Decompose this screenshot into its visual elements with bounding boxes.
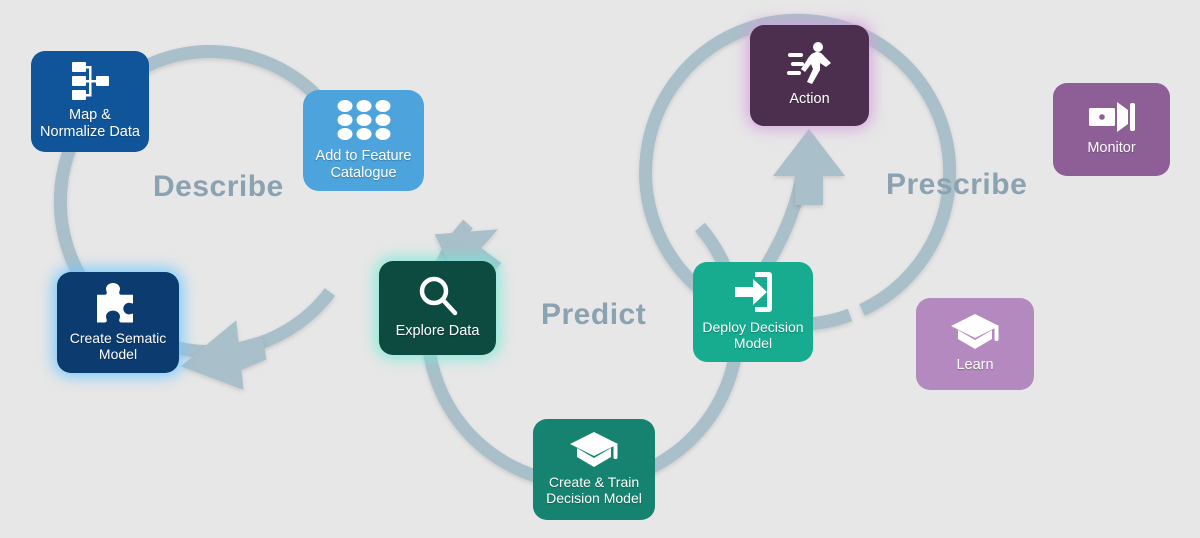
login-arrow-icon: [733, 270, 773, 314]
tile-label: Map & Normalize Data: [40, 107, 140, 139]
grid-dots-icon: [335, 98, 393, 142]
tile-create-semantic-model[interactable]: Create Sematic Model: [57, 272, 179, 373]
graduation-cap-icon: [950, 313, 1000, 351]
hierarchy-icon: [69, 61, 111, 101]
phase-label-prescribe: Prescribe: [886, 168, 1027, 202]
tile-label: Create & Train Decision Model: [546, 475, 642, 506]
tile-monitor[interactable]: Monitor: [1053, 83, 1170, 176]
tile-add-to-feature-catalogue[interactable]: Add to Feature Catalogue: [303, 90, 424, 191]
arrowhead-create-semantic-model: [177, 318, 270, 397]
phase-label-predict: Predict: [541, 298, 646, 332]
tile-explore-data[interactable]: Explore Data: [379, 261, 496, 355]
tile-action[interactable]: Action: [750, 25, 869, 126]
flashlight-icon: [1088, 100, 1136, 134]
tile-label: Action: [789, 91, 829, 107]
tile-learn[interactable]: Learn: [916, 298, 1034, 390]
diagram-canvas: Describe Predict Prescribe Map & Normali: [0, 0, 1200, 538]
phase-label-describe: Describe: [153, 170, 284, 204]
tile-label: Add to Feature Catalogue: [316, 148, 412, 180]
tile-label: Explore Data: [396, 323, 480, 339]
tile-label: Learn: [956, 357, 993, 373]
puzzle-piece-icon: [95, 281, 141, 325]
tile-map-normalize-data[interactable]: Map & Normalize Data: [31, 51, 149, 152]
graduation-cap-icon: [569, 431, 619, 469]
tile-label: Create Sematic Model: [70, 331, 166, 362]
arrowhead-action: [773, 129, 845, 205]
tile-create-train-decision-model[interactable]: Create & Train Decision Model: [533, 419, 655, 520]
running-person-icon: [786, 41, 834, 85]
tile-deploy-decision-model[interactable]: Deploy Decision Model: [693, 262, 813, 362]
magnifier-icon: [417, 275, 459, 317]
tile-label: Monitor: [1087, 140, 1135, 156]
tile-label: Deploy Decision Model: [702, 320, 803, 351]
